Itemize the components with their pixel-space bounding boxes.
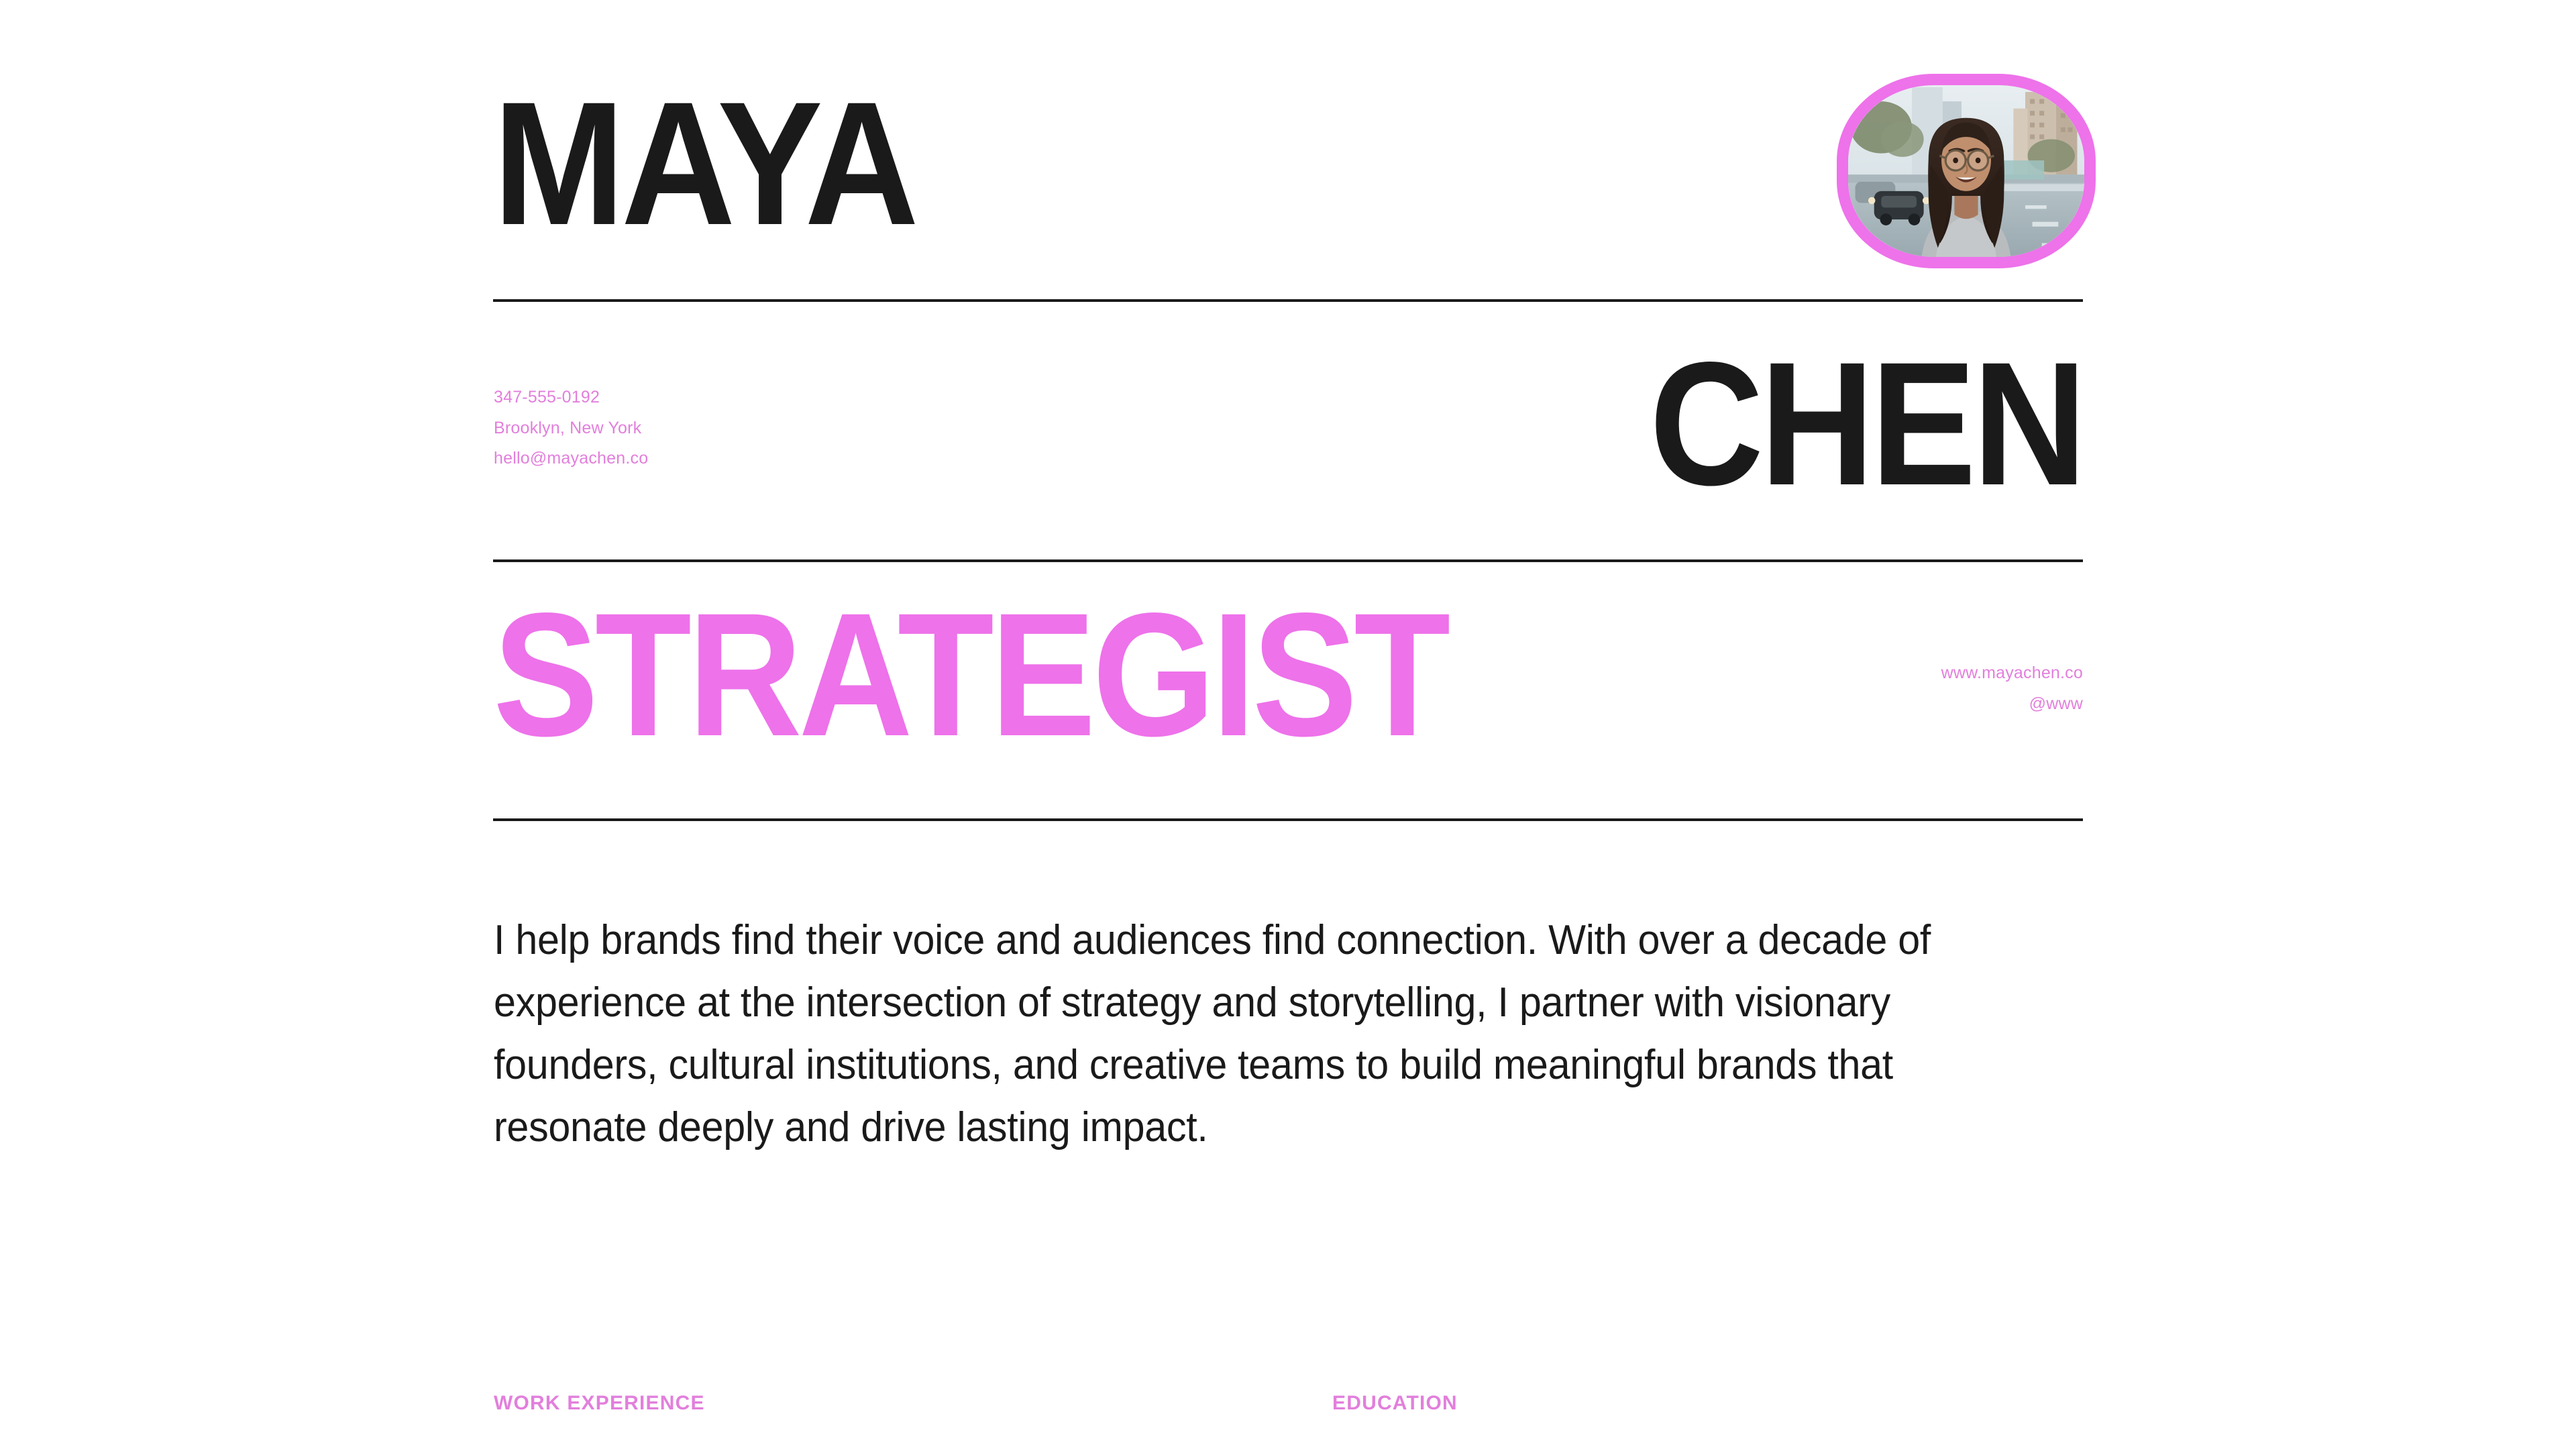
page-title-last-name: CHEN [1649,339,2083,508]
link-website[interactable]: www.mayachen.co [1941,657,2083,688]
resume-page: MAYA [0,0,2576,1449]
divider-2 [493,559,2083,562]
summary-paragraph: I help brands find their voice and audie… [494,909,2025,1159]
contact-phone[interactable]: 347-555-0192 [494,382,648,413]
contact-location: Brooklyn, New York [494,413,648,444]
link-handle[interactable]: @www [1941,688,2083,719]
page-title-first-name: MAYA [493,79,915,248]
section-heading-education: EDUCATION [1332,1392,1458,1415]
portrait-photo-icon [1848,85,2084,257]
avatar-photo [1848,85,2084,257]
contact-block: 347-555-0192 Brooklyn, New York hello@ma… [494,382,648,474]
divider-3 [493,818,2083,821]
section-heading-work-experience: WORK EXPERIENCE [494,1392,705,1415]
divider-1 [493,299,2083,302]
contact-email[interactable]: hello@mayachen.co [494,443,648,474]
links-block: www.mayachen.co @www [1941,657,2083,720]
avatar [1837,74,2096,268]
job-title: STRATEGIST [493,590,1447,759]
